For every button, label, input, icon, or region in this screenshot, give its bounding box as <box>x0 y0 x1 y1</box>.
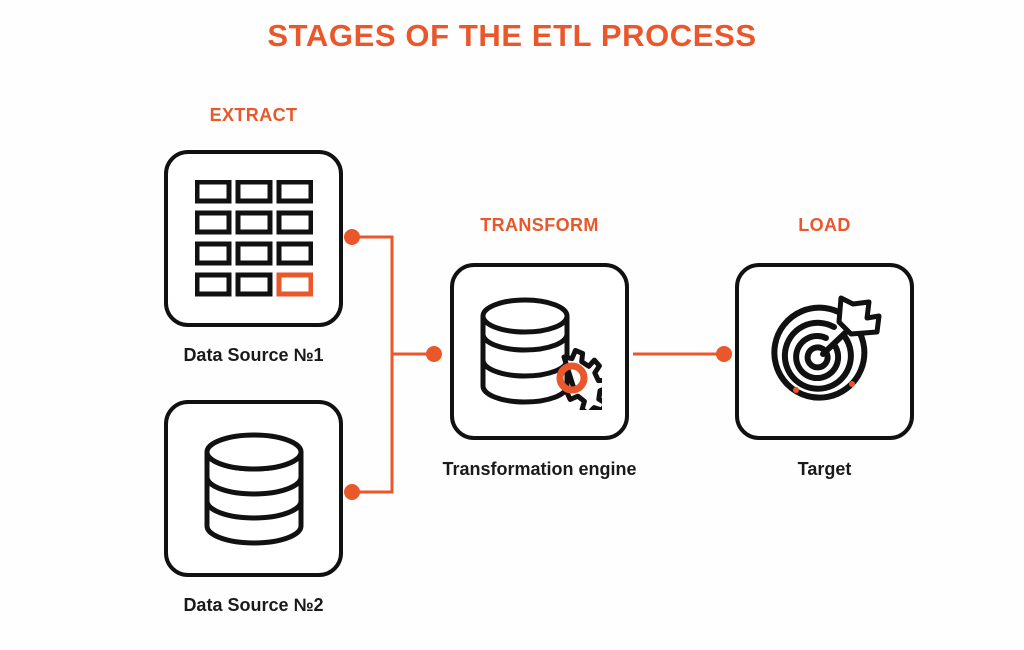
caption-data-source-2: Data Source №2 <box>124 594 383 617</box>
card-target[interactable] <box>735 263 914 440</box>
caption-target: Target <box>715 458 934 481</box>
connector-dot-target <box>716 346 732 362</box>
stage-label-transform: TRANSFORM <box>450 215 629 236</box>
card-transformation-engine[interactable] <box>450 263 629 440</box>
etl-diagram: STAGES OF THE ETL PROCESS EXTRACT <box>0 0 1024 650</box>
database-cylinder-icon <box>202 431 306 547</box>
card-data-source-2[interactable] <box>164 400 343 577</box>
card-data-source-1[interactable] <box>164 150 343 327</box>
stage-label-load: LOAD <box>735 215 914 236</box>
target-accent-dot-right <box>849 381 855 387</box>
caption-data-source-1: Data Source №1 <box>124 344 383 367</box>
target-arrow-icon <box>765 292 885 412</box>
caption-transformation-engine: Transformation engine <box>430 458 649 481</box>
grid-cell-highlighted <box>279 275 311 294</box>
connector-dot-junction <box>426 346 442 362</box>
stage-label-extract: EXTRACT <box>164 105 343 126</box>
connector-dot-source1 <box>344 229 360 245</box>
grid-table-icon <box>195 180 313 298</box>
database-gear-icon <box>478 294 602 410</box>
target-accent-dot-left <box>793 387 799 393</box>
connector-dot-source2 <box>344 484 360 500</box>
page-title: STAGES OF THE ETL PROCESS <box>0 18 1024 54</box>
